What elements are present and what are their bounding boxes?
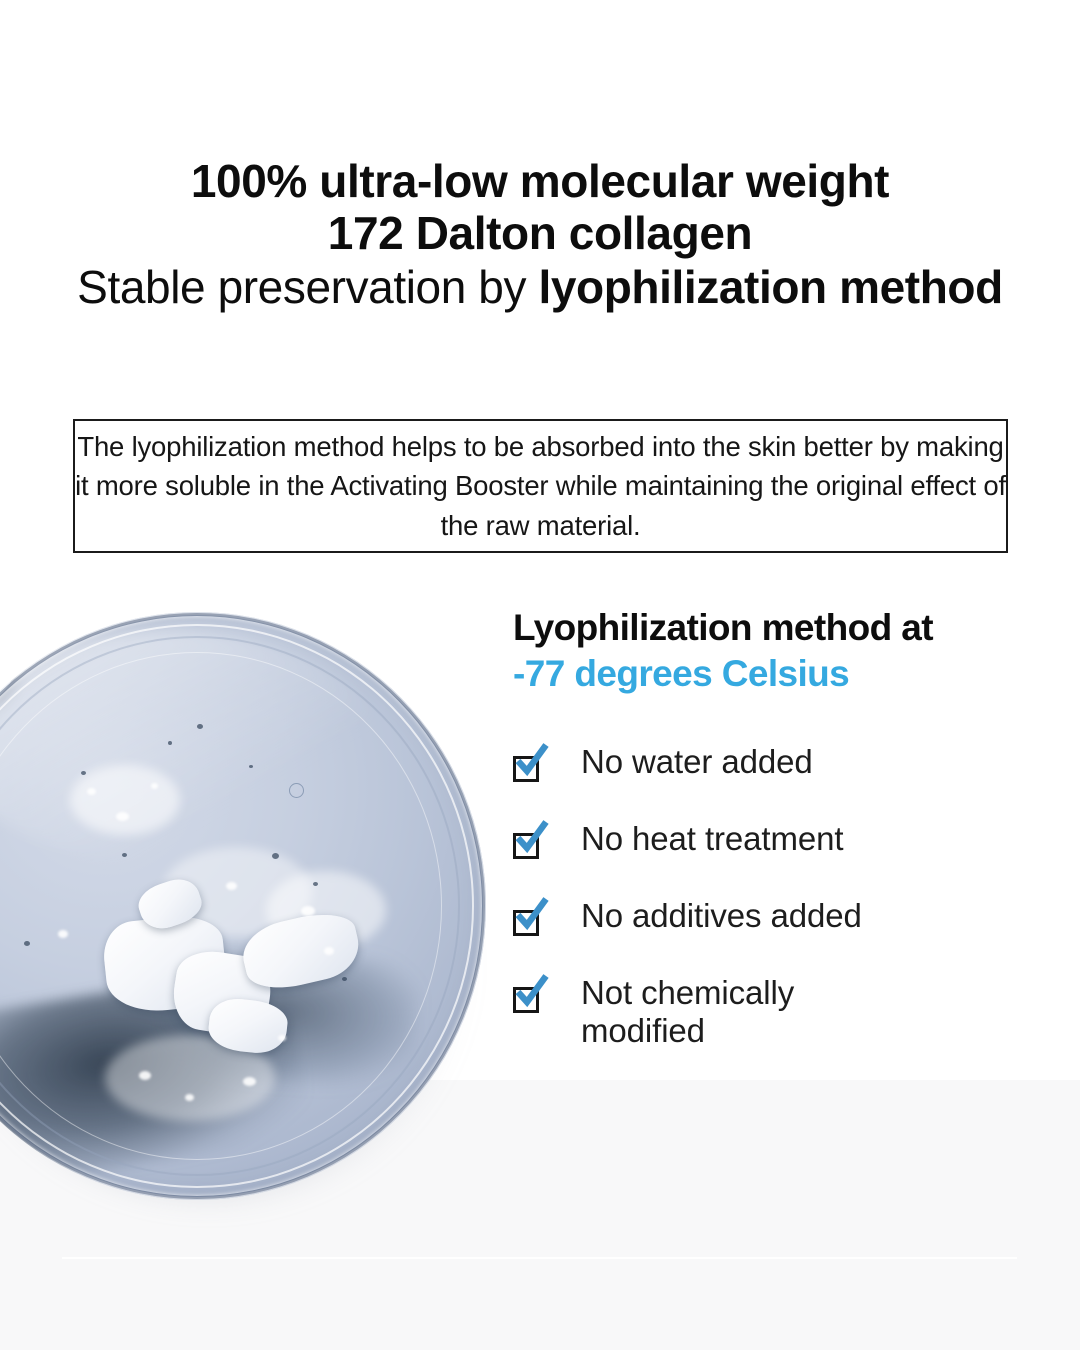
headline-line-3-bold: lyophilization method bbox=[538, 261, 1002, 313]
headline-line-2: 172 Dalton collagen bbox=[0, 208, 1080, 260]
dark-speck bbox=[342, 977, 347, 981]
powder-speck bbox=[243, 1077, 256, 1086]
description-text: The lyophilization method helps to be ab… bbox=[75, 427, 1006, 544]
infographic-page: 100% ultra-low molecular weight 172 Dalt… bbox=[0, 0, 1080, 1350]
dark-speck bbox=[197, 724, 203, 729]
page-title: 100% ultra-low molecular weight 172 Dalt… bbox=[0, 156, 1080, 314]
powder-cloud bbox=[70, 765, 180, 835]
checkbox-checked-icon bbox=[513, 828, 543, 858]
list-item: No water added bbox=[513, 742, 1033, 784]
list-item: No additives added bbox=[513, 896, 1033, 938]
powder-speck bbox=[58, 930, 68, 938]
benefit-checklist: No water added No heat treatment bbox=[513, 742, 1033, 1051]
section-heading-temperature: -77 degrees Celsius bbox=[513, 651, 1033, 697]
powder-speck bbox=[116, 812, 129, 821]
dark-speck bbox=[249, 765, 253, 768]
petri-dish-image bbox=[0, 612, 498, 1212]
checkbox-checked-icon bbox=[513, 982, 543, 1012]
dark-speck bbox=[24, 941, 30, 946]
dish-glass-gloss bbox=[0, 630, 382, 865]
powder-speck bbox=[301, 906, 315, 916]
powder-speck bbox=[151, 783, 158, 789]
list-item-label: Not chemically modified bbox=[581, 973, 881, 1051]
powder-speck bbox=[139, 1071, 151, 1080]
headline-line-3-regular: Stable preservation by bbox=[77, 261, 538, 313]
dark-speck bbox=[122, 853, 127, 857]
section-heading-line-1: Lyophilization method at bbox=[513, 607, 933, 648]
bubble-icon bbox=[289, 783, 304, 798]
list-item: Not chemically modified bbox=[513, 973, 1033, 1051]
headline-line-3: Stable preservation by lyophilization me… bbox=[0, 262, 1080, 314]
list-item-label: No heat treatment bbox=[581, 819, 843, 859]
checkbox-checked-icon bbox=[513, 905, 543, 935]
description-box: The lyophilization method helps to be ab… bbox=[73, 419, 1008, 553]
section-heading: Lyophilization method at -77 degrees Cel… bbox=[513, 605, 1033, 698]
section-divider bbox=[62, 1257, 1017, 1259]
petri-dish bbox=[0, 612, 486, 1200]
checkbox-checked-icon bbox=[513, 751, 543, 781]
headline-line-1: 100% ultra-low molecular weight bbox=[0, 156, 1080, 208]
method-section: Lyophilization method at -77 degrees Cel… bbox=[513, 605, 1033, 1051]
list-item-label: No water added bbox=[581, 742, 813, 782]
list-item: No heat treatment bbox=[513, 819, 1033, 861]
list-item-label: No additives added bbox=[581, 896, 862, 936]
